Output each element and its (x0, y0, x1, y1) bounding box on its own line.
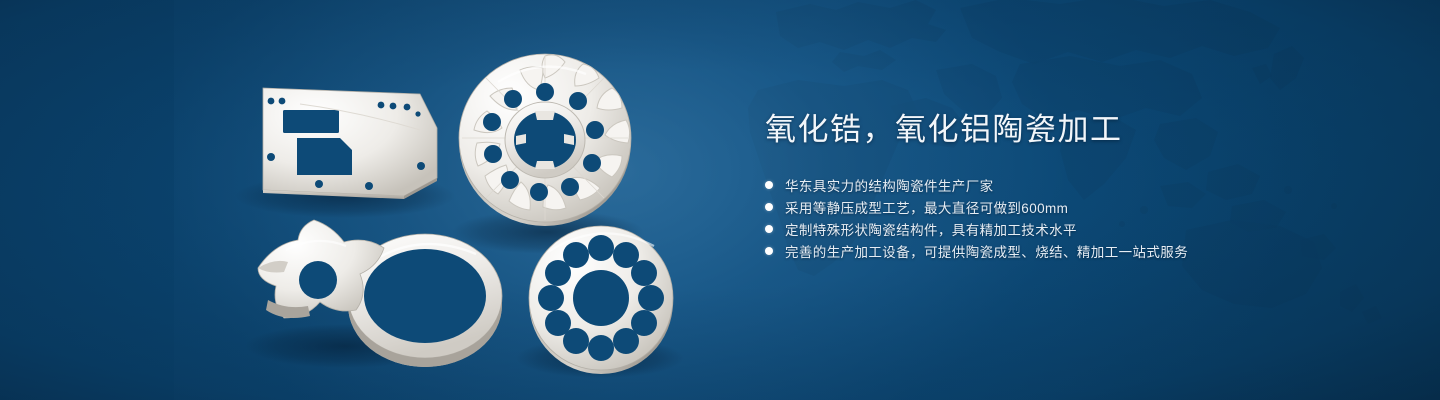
feature-item-2: 采用等静压成型工艺，最大直径可做到600mm (765, 196, 1385, 218)
feature-item-1-label: 华东具实力的结构陶瓷件生产厂家 (785, 175, 994, 195)
feature-item-3: 定制特殊形状陶瓷结构件，具有精加工技术水平 (765, 218, 1385, 240)
bullet-dot-icon (765, 247, 773, 255)
promo-banner: 氧化锆，氧化铝陶瓷加工 华东具实力的结构陶瓷件生产厂家 采用等静压成型工艺，最大… (0, 0, 1440, 400)
feature-item-3-label: 定制特殊形状陶瓷结构件，具有精加工技术水平 (785, 219, 1077, 239)
feature-item-1: 华东具实力的结构陶瓷件生产厂家 (765, 174, 1385, 196)
bullet-dot-icon (765, 203, 773, 211)
bullet-dot-icon (765, 225, 773, 233)
bullet-dot-icon (765, 181, 773, 189)
feature-item-4-label: 完善的生产加工设备，可提供陶瓷成型、烧结、精加工一站式服务 (785, 241, 1188, 261)
feature-item-4: 完善的生产加工设备，可提供陶瓷成型、烧结、精加工一站式服务 (765, 240, 1385, 262)
feature-item-2-label: 采用等静压成型工艺，最大直径可做到600mm (785, 197, 1068, 217)
banner-headline: 氧化锆，氧化铝陶瓷加工 (765, 108, 1385, 152)
banner-feature-list: 华东具实力的结构陶瓷件生产厂家 采用等静压成型工艺，最大直径可做到600mm 定… (765, 174, 1385, 262)
banner-copy: 氧化锆，氧化铝陶瓷加工 华东具实力的结构陶瓷件生产厂家 采用等静压成型工艺，最大… (765, 108, 1385, 262)
